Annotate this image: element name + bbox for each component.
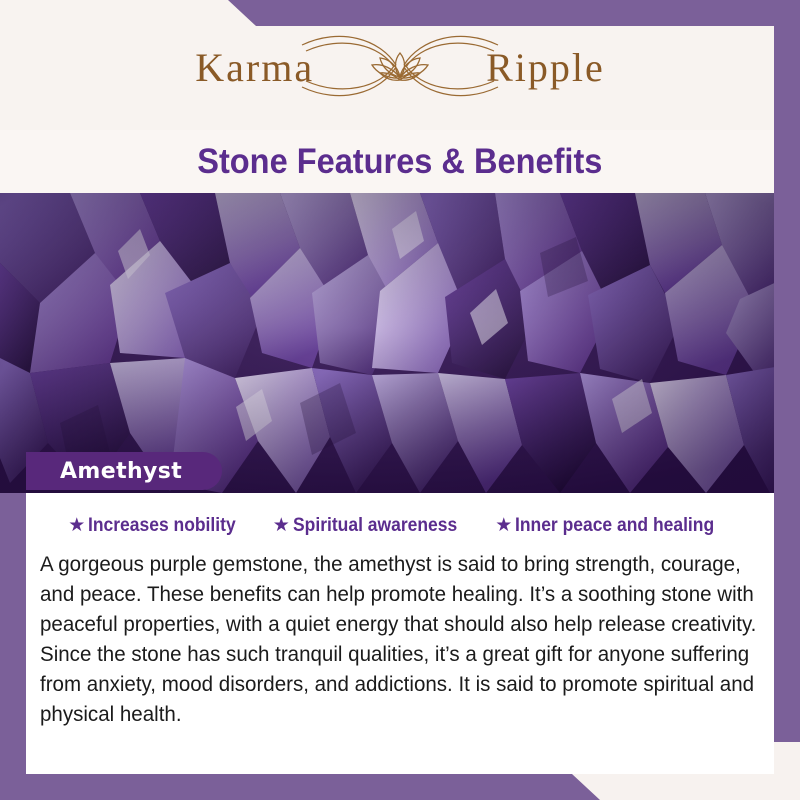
frame-bottom-bar xyxy=(0,774,800,800)
section-title-band: Stone Features & Benefits xyxy=(0,130,800,193)
brand-name-left: Karma xyxy=(195,48,314,88)
feature-list: ★ Increases nobility ★ Spiritual awarene… xyxy=(26,493,774,541)
star-icon: ★ xyxy=(495,516,512,535)
feature-label: Inner peace and healing xyxy=(515,515,714,537)
brand-logo: Karma Ripple xyxy=(180,25,620,111)
hero-vignette xyxy=(0,193,800,493)
feature-item: ★ Inner peace and healing xyxy=(495,515,732,537)
frame-left-bar xyxy=(0,493,26,800)
feature-label: Increases nobility xyxy=(88,515,236,537)
stone-name-banner: Amethyst xyxy=(26,452,222,490)
stone-details-card: ★ Increases nobility ★ Spiritual awarene… xyxy=(26,493,774,774)
star-icon: ★ xyxy=(68,516,85,535)
product-info-card: Amethyst xyxy=(0,0,800,800)
stone-description: A gorgeous purple gemstone, the amethyst… xyxy=(40,549,775,729)
frame-right-bar xyxy=(774,0,800,742)
feature-item: ★ Increases nobility xyxy=(68,515,249,537)
brand-name-right: Ripple xyxy=(486,48,605,88)
star-icon: ★ xyxy=(273,516,290,535)
amethyst-hero-image xyxy=(0,193,800,493)
feature-item: ★ Spiritual awareness xyxy=(273,515,472,537)
stone-name-label: Amethyst xyxy=(60,459,182,484)
page-title: Stone Features & Benefits xyxy=(197,142,602,182)
feature-label: Spiritual awareness xyxy=(293,515,457,537)
